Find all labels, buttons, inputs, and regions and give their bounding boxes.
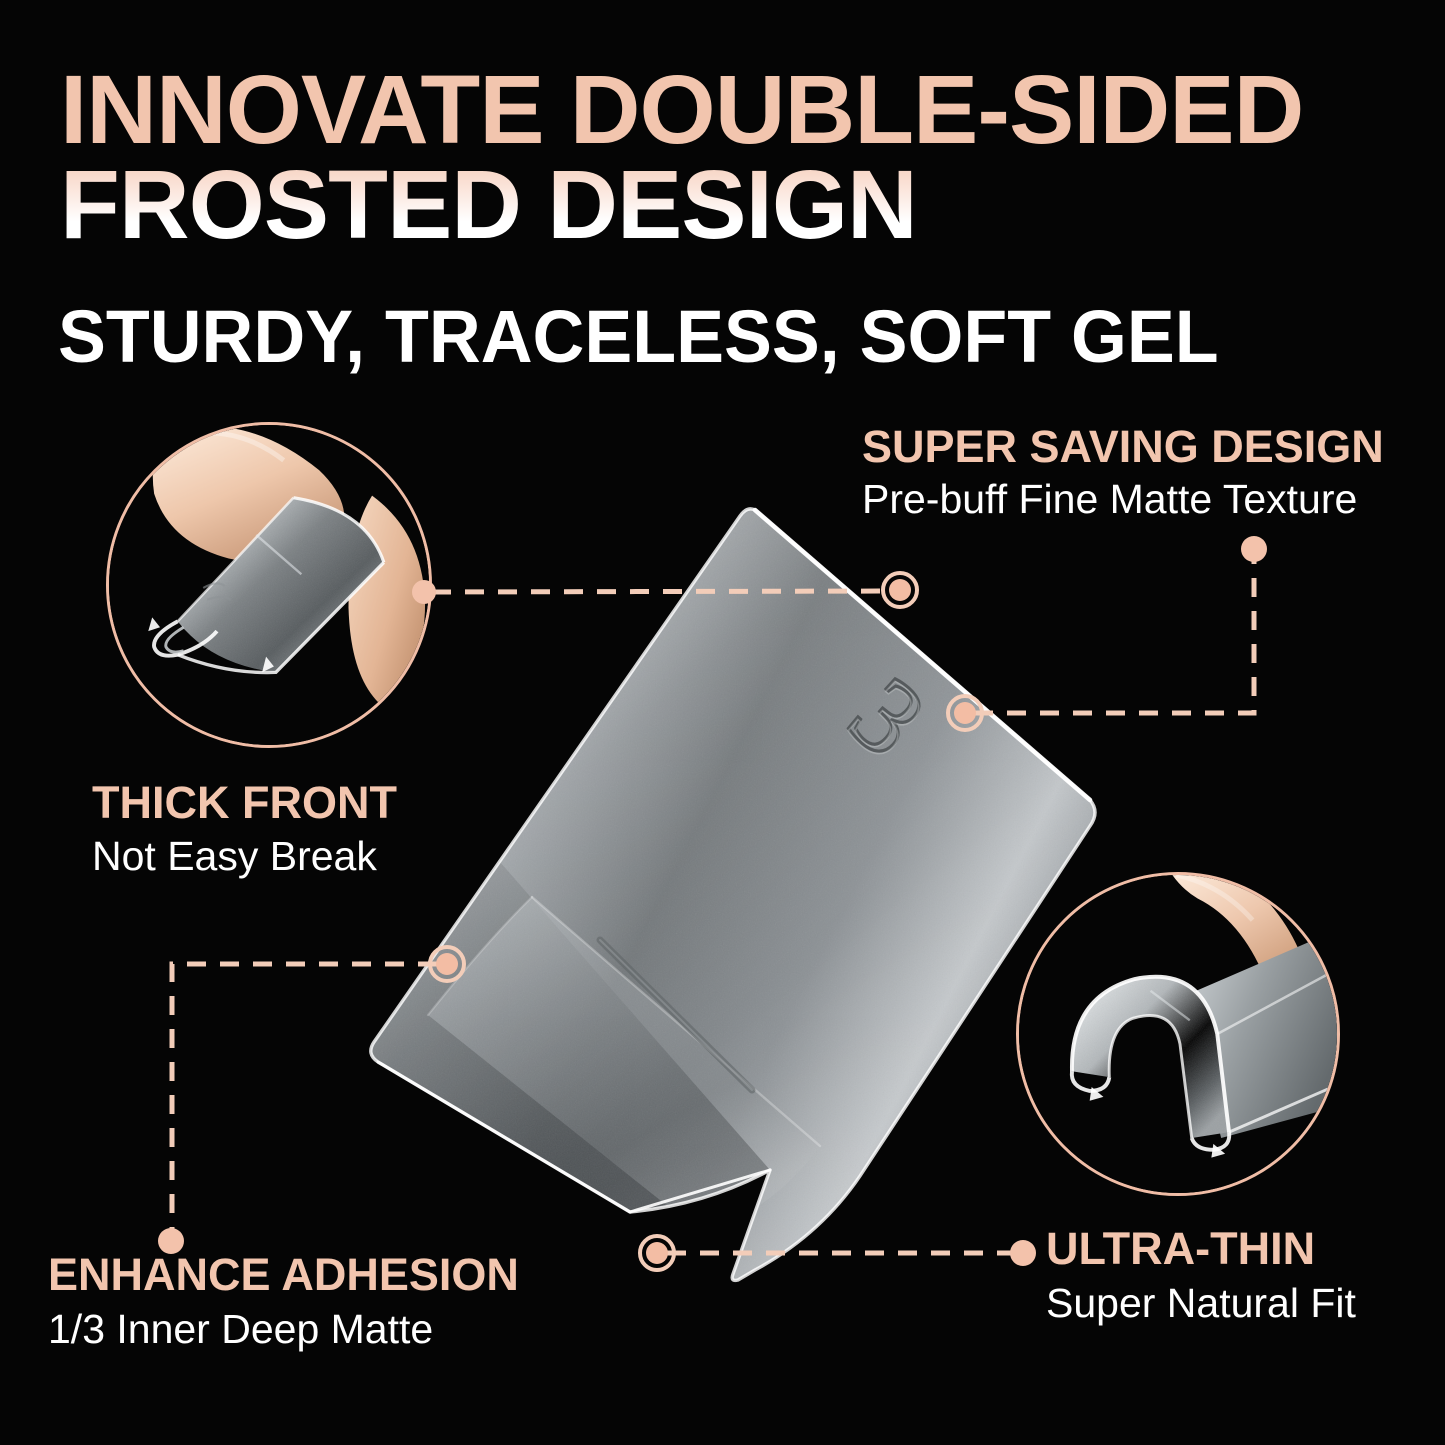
headline-line-1: INNOVATE DOUBLE-SIDED	[60, 62, 1413, 157]
callout-title-enhance-adhesion: ENHANCE ADHESION	[48, 1252, 519, 1298]
callout-title-thick-front: THICK FRONT	[92, 780, 397, 826]
inset-photo-thick-front	[106, 422, 432, 748]
callout-super-saving-design: SUPER SAVING DESIGN Pre-buff Fine Matte …	[862, 424, 1384, 521]
connector-anchor-thick-front	[883, 573, 917, 607]
lead-line-thick-front	[432, 591, 893, 592]
headline-block: INNOVATE DOUBLE-SIDED FROSTED DESIGN	[60, 62, 1400, 252]
callout-title-ultra-thin: ULTRA-THIN	[1046, 1226, 1356, 1272]
connector-anchor-super-saving	[948, 696, 982, 730]
connector-anchor-enhance-adhesion	[430, 947, 464, 981]
callout-subtitle-super-saving-design: Pre-buff Fine Matte Texture	[862, 477, 1384, 521]
lead-line-super-saving	[974, 556, 1254, 713]
connector-dot-super-saving-end	[1241, 536, 1267, 562]
callout-subtitle-ultra-thin: Super Natural Fit	[1046, 1281, 1356, 1325]
svg-text:3: 3	[827, 657, 947, 782]
headline-subtitle: STURDY, TRACELESS, SOFT GEL	[58, 300, 1219, 374]
ultra-thin-photo-illustration	[1019, 875, 1337, 1193]
callout-ultra-thin: ULTRA-THIN Super Natural Fit	[1046, 1226, 1356, 1325]
inset-photo-ultra-thin	[1016, 872, 1340, 1196]
thick-front-photo-illustration	[109, 425, 429, 745]
connector-anchor-ultra-thin	[640, 1236, 674, 1270]
callout-title-super-saving-design: SUPER SAVING DESIGN	[862, 424, 1384, 470]
callout-enhance-adhesion: ENHANCE ADHESION 1/3 Inner Deep Matte	[48, 1252, 519, 1351]
connector-dot-ultra-thin-end	[1010, 1240, 1036, 1266]
svg-text:3: 3	[827, 655, 947, 780]
callout-subtitle-enhance-adhesion: 1/3 Inner Deep Matte	[48, 1307, 519, 1351]
nail-tip-centre-groove	[600, 940, 752, 1090]
size-marking-3: 3 3	[826, 655, 948, 782]
nail-tip-edge-highlight	[371, 509, 1095, 1281]
lead-line-enhance-adhesion	[172, 964, 437, 1234]
callout-thick-front: THICK FRONT Not Easy Break	[92, 780, 397, 878]
infographic-canvas: INNOVATE DOUBLE-SIDED FROSTED DESIGN STU…	[0, 0, 1445, 1445]
headline-line-2: FROSTED DESIGN	[60, 157, 1413, 252]
callout-subtitle-thick-front: Not Easy Break	[92, 834, 397, 878]
